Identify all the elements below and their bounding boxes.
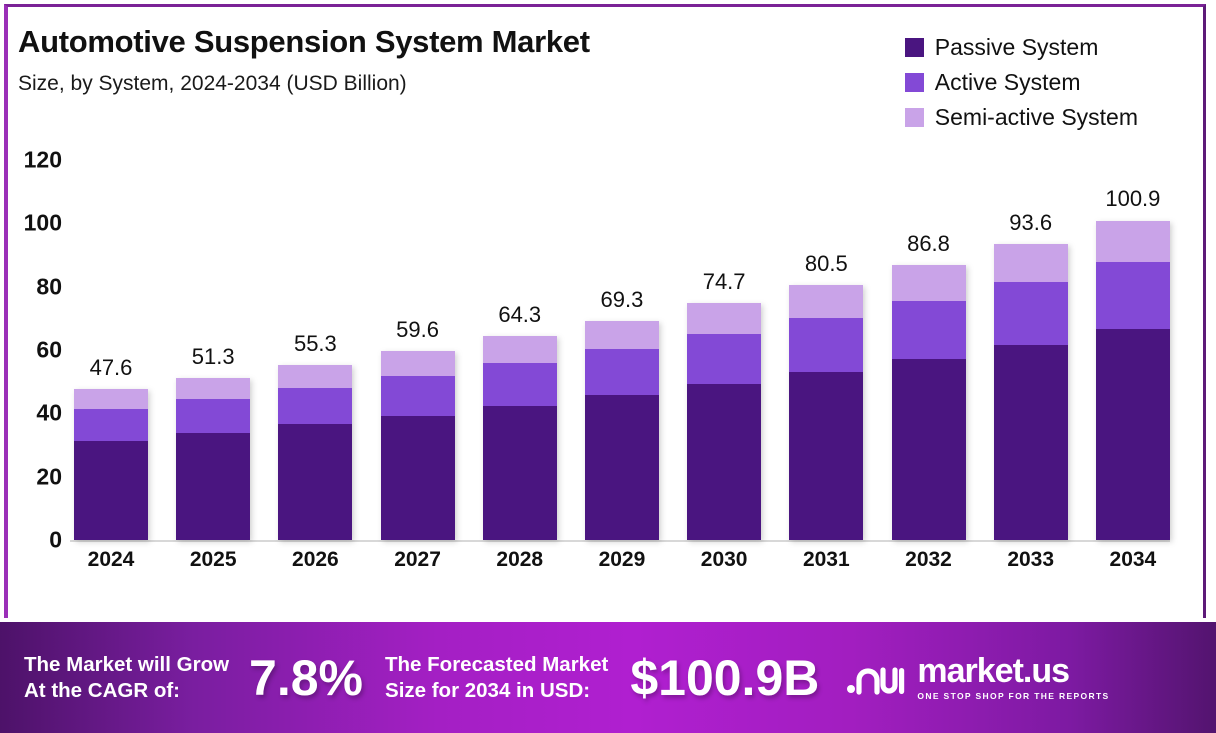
bar-total-label: 59.6	[381, 317, 455, 343]
forecast-value: $100.9B	[630, 653, 819, 703]
logo-tagline: ONE STOP SHOP FOR THE REPORTS	[917, 691, 1109, 701]
y-axis-tick-label: 60	[36, 337, 62, 364]
forecast-caption-line1: The Forecasted Market	[385, 652, 608, 678]
bar-segment-active-system[interactable]	[687, 334, 761, 384]
bar-total-label: 47.6	[74, 355, 148, 381]
bar-segment-active-system[interactable]	[892, 301, 966, 359]
bar-stack[interactable]	[892, 265, 966, 540]
market-us-logo[interactable]: market.us ONE STOP SHOP FOR THE REPORTS	[845, 654, 1109, 701]
bar-segment-active-system[interactable]	[176, 399, 250, 433]
bar-segment-active-system[interactable]	[585, 349, 659, 395]
x-axis-tick-label: 2034	[1096, 548, 1170, 572]
legend-label: Semi-active System	[935, 104, 1138, 131]
bar-column[interactable]: 47.6	[74, 160, 148, 540]
bar-segment-passive-system[interactable]	[278, 424, 352, 540]
bar-segment-passive-system[interactable]	[74, 441, 148, 540]
bar-column[interactable]: 55.3	[278, 160, 352, 540]
legend-swatch-icon	[905, 108, 924, 127]
x-axis-tick-label: 2028	[483, 548, 557, 572]
bar-segment-passive-system[interactable]	[789, 372, 863, 540]
bar-segment-passive-system[interactable]	[994, 345, 1068, 540]
x-axis-tick-label: 2027	[381, 548, 455, 572]
bar-column[interactable]: 51.3	[176, 160, 250, 540]
bar-total-label: 69.3	[585, 287, 659, 313]
x-axis-tick-label: 2030	[687, 548, 761, 572]
bar-column[interactable]: 69.3	[585, 160, 659, 540]
bar-segment-passive-system[interactable]	[892, 359, 966, 540]
bar-segment-active-system[interactable]	[381, 376, 455, 416]
bar-segment-semi-active-system[interactable]	[278, 365, 352, 388]
infographic-root: Automotive Suspension System Market Size…	[0, 0, 1216, 733]
bar-segment-semi-active-system[interactable]	[687, 303, 761, 334]
y-axis-tick-label: 120	[24, 147, 62, 174]
bar-column[interactable]: 80.5	[789, 160, 863, 540]
bar-segment-active-system[interactable]	[483, 363, 557, 406]
legend-item-passive-system[interactable]: Passive System	[905, 34, 1138, 61]
y-axis-tick-label: 100	[24, 210, 62, 237]
bar-stack[interactable]	[687, 303, 761, 540]
bar-column[interactable]: 74.7	[687, 160, 761, 540]
bar-total-label: 51.3	[176, 344, 250, 370]
market-us-logo-mark-icon	[845, 658, 907, 698]
x-axis-tick-label: 2029	[585, 548, 659, 572]
bar-stack[interactable]	[483, 336, 557, 540]
cagr-caption-line2: At the CAGR of:	[24, 678, 229, 704]
bar-segment-semi-active-system[interactable]	[789, 285, 863, 318]
bar-segment-active-system[interactable]	[994, 282, 1068, 344]
bar-segment-semi-active-system[interactable]	[381, 351, 455, 376]
x-axis-tick-label: 2032	[892, 548, 966, 572]
bar-total-label: 64.3	[483, 302, 557, 328]
x-axis-tick-label: 2025	[176, 548, 250, 572]
bar-segment-semi-active-system[interactable]	[585, 321, 659, 350]
x-axis-tick-label: 2033	[994, 548, 1068, 572]
bar-segment-active-system[interactable]	[1096, 262, 1170, 329]
bar-stack[interactable]	[74, 389, 148, 540]
bar-stack[interactable]	[176, 378, 250, 540]
bar-segment-passive-system[interactable]	[585, 395, 659, 540]
bar-stack[interactable]	[585, 321, 659, 540]
bar-segment-semi-active-system[interactable]	[74, 389, 148, 409]
forecast-caption: The Forecasted Market Size for 2034 in U…	[385, 652, 608, 703]
y-axis-tick-label: 40	[36, 400, 62, 427]
x-axis-tick-label: 2026	[278, 548, 352, 572]
page-title: Automotive Suspension System Market	[18, 24, 778, 60]
x-axis-line	[70, 540, 1170, 542]
bar-segment-passive-system[interactable]	[1096, 329, 1170, 540]
bar-segment-active-system[interactable]	[789, 318, 863, 372]
bar-segment-passive-system[interactable]	[176, 433, 250, 540]
bar-column[interactable]: 93.6	[994, 160, 1068, 540]
y-axis-tick-label: 0	[49, 527, 62, 554]
bar-stack[interactable]	[994, 244, 1068, 540]
chart-legend: Passive System Active System Semi-active…	[905, 34, 1138, 139]
bar-segment-passive-system[interactable]	[483, 406, 557, 540]
bar-stack[interactable]	[278, 365, 352, 540]
cagr-caption-line1: The Market will Grow	[24, 652, 229, 678]
bar-segment-semi-active-system[interactable]	[1096, 221, 1170, 262]
bar-stack[interactable]	[1096, 221, 1170, 540]
bar-stack[interactable]	[381, 351, 455, 540]
bar-total-label: 93.6	[994, 210, 1068, 236]
bar-total-label: 74.7	[687, 269, 761, 295]
bar-group: 47.651.355.359.664.369.374.780.586.893.6…	[74, 160, 1170, 540]
x-axis-labels: 2024202520262027202820292030203120322033…	[74, 548, 1170, 572]
page-subtitle: Size, by System, 2024-2034 (USD Billion)	[18, 72, 778, 96]
plot-area: 020406080100120 47.651.355.359.664.369.3…	[0, 160, 1202, 590]
bar-stack[interactable]	[789, 285, 863, 540]
cagr-caption: The Market will Grow At the CAGR of:	[24, 652, 229, 703]
bar-total-label: 86.8	[892, 231, 966, 257]
bar-segment-semi-active-system[interactable]	[892, 265, 966, 301]
footer-banner: The Market will Grow At the CAGR of: 7.8…	[0, 622, 1216, 733]
logo-wordmark: market.us	[917, 654, 1109, 688]
y-axis-tick-label: 20	[36, 463, 62, 490]
bar-column[interactable]: 86.8	[892, 160, 966, 540]
legend-swatch-icon	[905, 73, 924, 92]
bar-total-label: 80.5	[789, 251, 863, 277]
bar-column[interactable]: 100.9	[1096, 160, 1170, 540]
legend-item-active-system[interactable]: Active System	[905, 69, 1138, 96]
y-axis: 020406080100120	[0, 160, 70, 540]
x-axis-tick-label: 2024	[74, 548, 148, 572]
bar-segment-semi-active-system[interactable]	[483, 336, 557, 363]
forecast-caption-line2: Size for 2034 in USD:	[385, 678, 608, 704]
legend-swatch-icon	[905, 38, 924, 57]
bar-segment-semi-active-system[interactable]	[994, 244, 1068, 283]
bar-segment-passive-system[interactable]	[687, 384, 761, 540]
legend-label: Passive System	[935, 34, 1099, 61]
x-axis-tick-label: 2031	[789, 548, 863, 572]
legend-label: Active System	[935, 69, 1081, 96]
bar-segment-passive-system[interactable]	[381, 416, 455, 540]
market-us-logo-text: market.us ONE STOP SHOP FOR THE REPORTS	[917, 654, 1109, 701]
cagr-value: 7.8%	[249, 653, 363, 703]
chart-header: Automotive Suspension System Market Size…	[18, 24, 778, 96]
legend-item-semi-active-system[interactable]: Semi-active System	[905, 104, 1138, 131]
bar-column[interactable]: 59.6	[381, 160, 455, 540]
bar-segment-semi-active-system[interactable]	[176, 378, 250, 399]
y-axis-tick-label: 80	[36, 273, 62, 300]
bar-total-label: 55.3	[278, 331, 352, 357]
bar-segment-active-system[interactable]	[74, 409, 148, 441]
bar-segment-active-system[interactable]	[278, 388, 352, 425]
bar-column[interactable]: 64.3	[483, 160, 557, 540]
bar-total-label: 100.9	[1096, 186, 1170, 212]
